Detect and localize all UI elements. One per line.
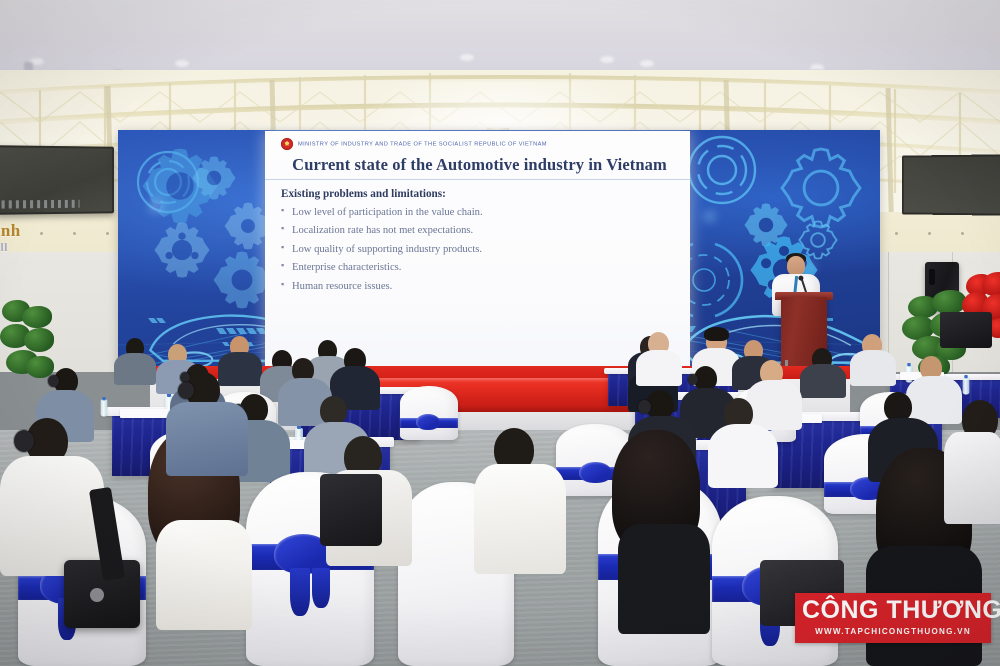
slide-bullet: Human resource issues. xyxy=(281,278,678,296)
slide-bullet: Localization rate has not met expectatio… xyxy=(281,222,678,240)
slide-bullet: Low quality of supporting industry produ… xyxy=(281,241,678,259)
watermark-brand: CÔNG THƯƠNG xyxy=(802,598,984,624)
backpack xyxy=(320,474,382,546)
vietnam-national-emblem-icon xyxy=(281,138,293,150)
ministry-line: MINISTRY OF INDUSTRY AND TRADE OF THE SO… xyxy=(298,140,547,147)
slide-bullet: Low level of participation in the value … xyxy=(281,204,678,222)
water-bottle xyxy=(101,400,108,417)
conference-hall-scene: ảnh all Sảnh xyxy=(0,0,1000,666)
speaker-head xyxy=(787,256,805,276)
hall-sign-left: ảnh xyxy=(0,221,21,241)
chair xyxy=(400,386,458,440)
slide-bullet-list: Low level of participation in the value … xyxy=(281,204,678,296)
document-paper xyxy=(120,409,168,418)
led-screen-right xyxy=(902,154,1000,215)
presentation-slide: MINISTRY OF INDUSTRY AND TRADE OF THE SO… xyxy=(265,131,690,369)
slide-subtitle: Existing problems and limitations: xyxy=(281,188,678,200)
slide-title: Current state of the Automotive industry… xyxy=(281,155,678,175)
slide-header: MINISTRY OF INDUSTRY AND TRADE OF THE SO… xyxy=(281,136,678,151)
slide-divider xyxy=(265,179,690,180)
hall-sign-left-sub: all xyxy=(0,240,8,255)
slide-bullet: Enterprise characteristics. xyxy=(281,259,678,277)
water-bottle xyxy=(963,378,970,395)
led-screen-left xyxy=(0,145,114,215)
watermark-logo: CÔNG THƯƠNG WWW.TAPCHICONGTHUONG.VN xyxy=(795,593,991,643)
watermark-url: WWW.TAPCHICONGTHUONG.VN xyxy=(802,627,984,636)
equipment-case xyxy=(940,312,992,348)
